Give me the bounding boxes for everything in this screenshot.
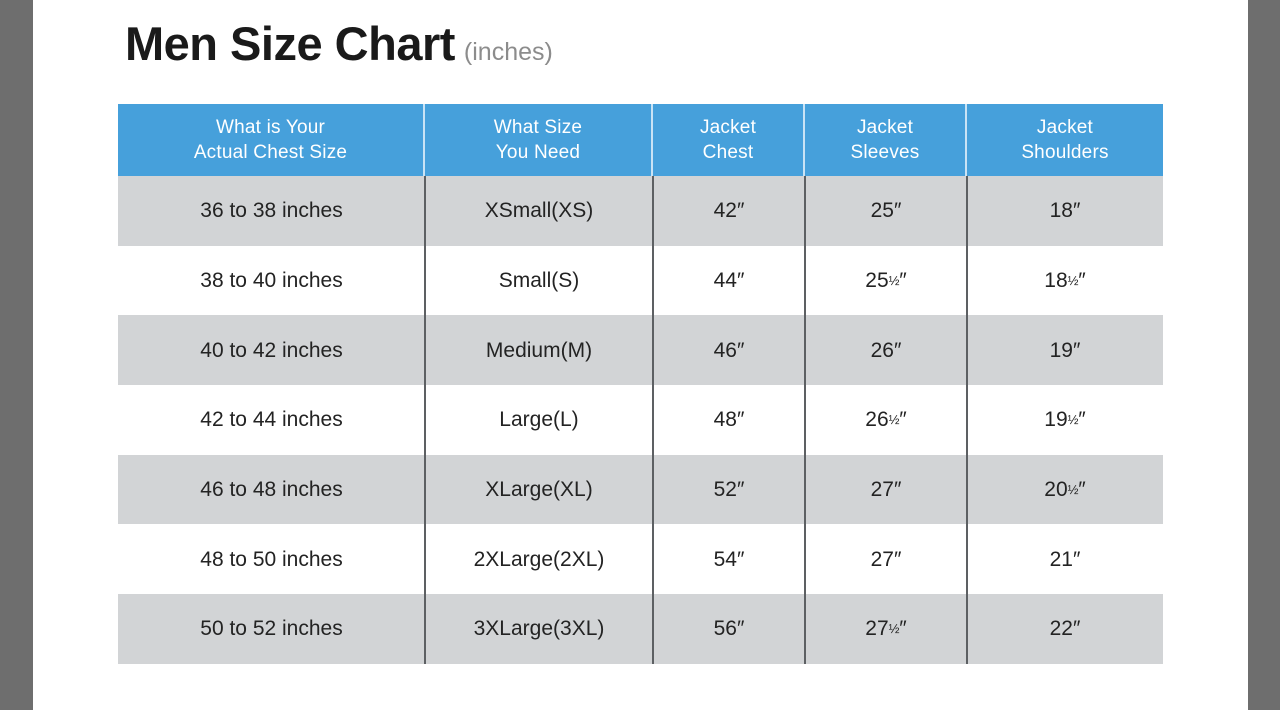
column-header-actual-chest-size: What is Your Actual Chest Size [118,104,425,176]
letterbox-bar-right [1248,0,1280,710]
table-row: 46 to 48 inchesXLarge(XL)52″27″20½″ [118,455,1163,525]
table-cell: Small(S) [425,246,653,316]
table-cell: 42″ [653,176,805,246]
column-header-jacket-sleeves: Jacket Sleeves [805,104,967,176]
table-cell: 42 to 44 inches [118,385,425,455]
table-cell: 20½″ [967,455,1163,525]
table-cell: 48 to 50 inches [118,524,425,594]
table-cell: 56″ [653,594,805,664]
column-header-line2: Sleeves [851,140,920,165]
column-header-line1: Jacket [700,115,756,140]
table-cell: 22″ [967,594,1163,664]
table-row: 38 to 40 inchesSmall(S)44″25½″18½″ [118,246,1163,316]
column-header-line2: Actual Chest Size [194,140,347,165]
table-cell: 38 to 40 inches [118,246,425,316]
table-cell: 26″ [805,315,967,385]
column-header-line2: Shoulders [1021,140,1108,165]
column-header-line1: Jacket [1021,115,1108,140]
table-cell: XLarge(XL) [425,455,653,525]
column-header-jacket-chest: Jacket Chest [653,104,805,176]
table-cell: 36 to 38 inches [118,176,425,246]
column-divider-1 [424,176,426,664]
column-header-line1: What Size [494,115,582,140]
column-divider-4 [966,176,968,664]
table-cell: 19½″ [967,385,1163,455]
table-row: 48 to 50 inches2XLarge(2XL)54″27″21″ [118,524,1163,594]
table-cell: 40 to 42 inches [118,315,425,385]
table-cell: 46 to 48 inches [118,455,425,525]
table-cell: 3XLarge(3XL) [425,594,653,664]
table-cell: Large(L) [425,385,653,455]
column-header-line1: Jacket [851,115,920,140]
table-cell: 46″ [653,315,805,385]
table-cell: 25″ [805,176,967,246]
column-divider-3 [804,176,806,664]
table-cell: 50 to 52 inches [118,594,425,664]
column-header-line1: What is Your [194,115,347,140]
table-cell: 25½″ [805,246,967,316]
table-row: 50 to 52 inches3XLarge(3XL)56″27½″22″ [118,594,1163,664]
column-header-line2: Chest [700,140,756,165]
page-title-unit: (inches) [464,40,553,65]
table-cell: 19″ [967,315,1163,385]
page-title-main: Men Size Chart [125,20,455,67]
table-cell: 27½″ [805,594,967,664]
table-cell: 52″ [653,455,805,525]
table-cell: 2XLarge(2XL) [425,524,653,594]
table-cell: 21″ [967,524,1163,594]
page-title: Men Size Chart (inches) [125,20,553,67]
table-cell: 54″ [653,524,805,594]
slide-stage: Men Size Chart (inches) What is Your Act… [0,0,1280,710]
table-body: 36 to 38 inchesXSmall(XS)42″25″18″38 to … [118,176,1163,664]
table-cell: 27″ [805,524,967,594]
table-row: 36 to 38 inchesXSmall(XS)42″25″18″ [118,176,1163,246]
table-header-row: What is Your Actual Chest Size What Size… [118,104,1163,176]
table-row: 40 to 42 inchesMedium(M)46″26″19″ [118,315,1163,385]
table-cell: Medium(M) [425,315,653,385]
column-divider-2 [652,176,654,664]
size-chart-table: What is Your Actual Chest Size What Size… [118,104,1163,664]
column-header-size-you-need: What Size You Need [425,104,653,176]
table-cell: 44″ [653,246,805,316]
table-row: 42 to 44 inchesLarge(L)48″26½″19½″ [118,385,1163,455]
table-cell: XSmall(XS) [425,176,653,246]
column-header-jacket-shoulders: Jacket Shoulders [967,104,1163,176]
slide-page: Men Size Chart (inches) What is Your Act… [33,0,1248,710]
table-cell: 18″ [967,176,1163,246]
table-cell: 48″ [653,385,805,455]
table-cell: 18½″ [967,246,1163,316]
letterbox-bar-left [0,0,33,710]
table-cell: 27″ [805,455,967,525]
table-cell: 26½″ [805,385,967,455]
column-header-line2: You Need [494,140,582,165]
